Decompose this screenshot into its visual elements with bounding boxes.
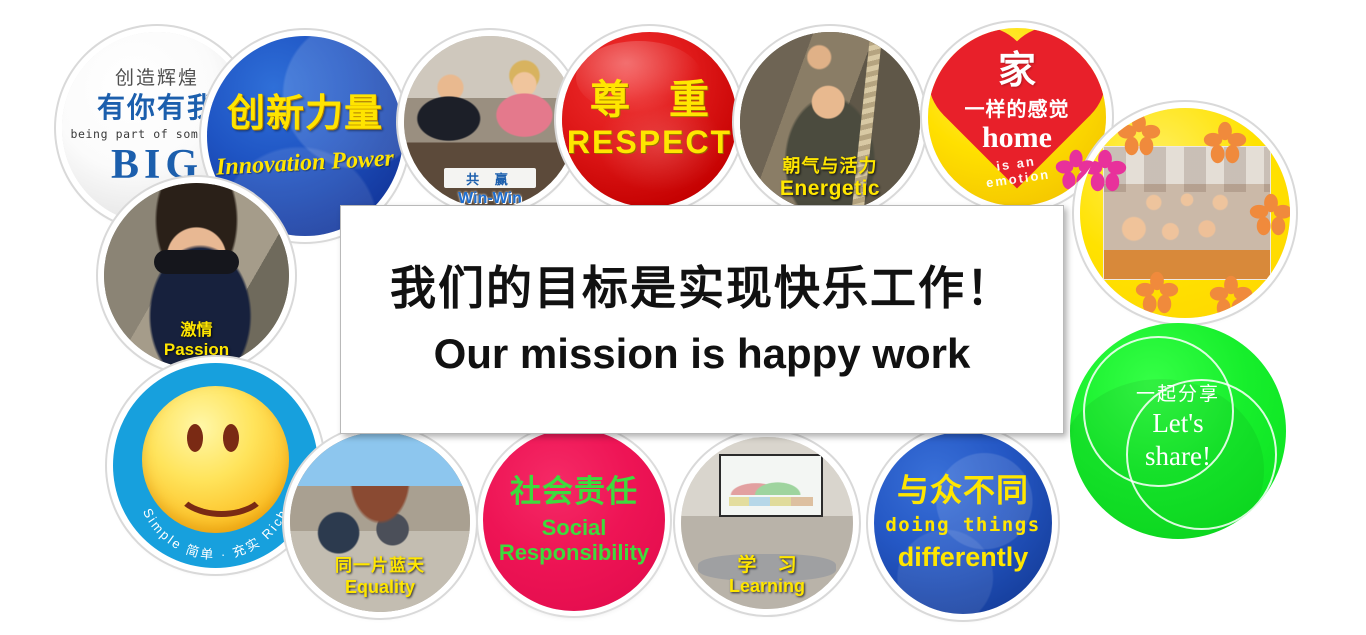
value-badge-differently[interactable]: 与众不同 doing things differently — [874, 432, 1052, 614]
value-badge-passion[interactable]: 激情 Passion — [104, 183, 289, 368]
flower-icon — [1134, 270, 1180, 316]
flower-icon — [1054, 148, 1098, 192]
mission-headline-cn: 我们的目标是实现快乐工作！ — [390, 261, 1014, 316]
value-badge-simple-rich[interactable]: Simple 简单 · 充实 Rich — [113, 363, 318, 568]
innovation-cn: 创新力量 — [227, 95, 383, 135]
respect-cn: 尊 重 — [576, 78, 723, 122]
value-badge-equality[interactable]: 同一片蓝天 Equality — [290, 432, 470, 612]
social-en1: Social — [542, 515, 607, 540]
equality-cn: 同一片蓝天 — [290, 551, 470, 576]
smiley-face-icon — [142, 386, 290, 534]
value-badge-home[interactable]: 家 一样的感觉 home is an emotion — [928, 28, 1106, 206]
social-en2: Responsibility — [499, 540, 649, 565]
different-cn: 与众不同 — [897, 473, 1029, 508]
different-en1: doing things — [885, 514, 1040, 536]
learning-en: Learning — [681, 576, 853, 597]
chart-bars — [729, 497, 813, 506]
value-badge-learning[interactable]: 学 习 Learning — [681, 437, 853, 609]
flower-icon — [1248, 192, 1290, 238]
smiley-eye-left — [187, 424, 203, 452]
home-cn1: 家 — [928, 52, 1106, 90]
values-collage: 创造辉煌 有你有我 being part of something BIG 创新… — [0, 0, 1366, 635]
innovation-en: Innovation Power — [215, 146, 394, 182]
winwin-nameplate: 共 赢 — [444, 168, 537, 188]
energetic-cn: 朝气与活力 — [740, 152, 920, 178]
big-line4: BIG — [111, 143, 203, 187]
passion-cn: 激情 — [104, 316, 289, 340]
mission-headline-en: Our mission is happy work — [434, 330, 971, 378]
value-badge-share[interactable]: 一起分享 Let's share! — [1070, 323, 1286, 539]
different-en2: differently — [898, 542, 1029, 573]
presentation-screen-icon — [719, 454, 823, 516]
big-line2: 有你有我 — [97, 92, 217, 124]
share-cn: 一起分享 — [1126, 383, 1230, 407]
sunglasses-icon — [154, 250, 239, 274]
passion-en: Passion — [104, 340, 289, 360]
flower-icon — [1202, 120, 1248, 166]
learning-cn: 学 习 — [681, 550, 853, 577]
home-text-block: 家 一样的感觉 home — [928, 52, 1106, 154]
smiley-eye-right — [223, 424, 239, 452]
flower-icon — [1208, 274, 1254, 318]
smiley-mouth — [173, 455, 271, 517]
value-badge-winwin[interactable]: 共 赢 Win-Win — [404, 36, 576, 208]
equality-en: Equality — [290, 577, 470, 598]
home-cn2: 一样的感觉 — [928, 93, 1106, 122]
respect-en: RESPECT — [567, 124, 732, 161]
social-cn: 社会责任 — [510, 475, 638, 509]
value-badge-social-responsibility[interactable]: 社会责任 Social Responsibility — [483, 429, 665, 611]
value-badge-family-photo[interactable] — [1080, 108, 1290, 318]
mission-banner: 我们的目标是实现快乐工作！ Our mission is happy work — [340, 205, 1064, 434]
value-badge-respect[interactable]: 尊 重 RESPECT — [562, 32, 737, 207]
big-line1: 创造辉煌 — [115, 69, 199, 90]
share-text-block: 一起分享 Let's share! — [1126, 383, 1230, 472]
share-en1: Let's — [1126, 407, 1230, 439]
group-photo — [1103, 146, 1271, 280]
share-en2: share! — [1126, 440, 1230, 472]
value-badge-energetic[interactable]: 朝气与活力 Energetic — [740, 32, 920, 212]
energetic-en: Energetic — [740, 177, 920, 201]
winwin-cn: 共 赢 — [466, 169, 514, 188]
chart-curve — [729, 468, 813, 495]
